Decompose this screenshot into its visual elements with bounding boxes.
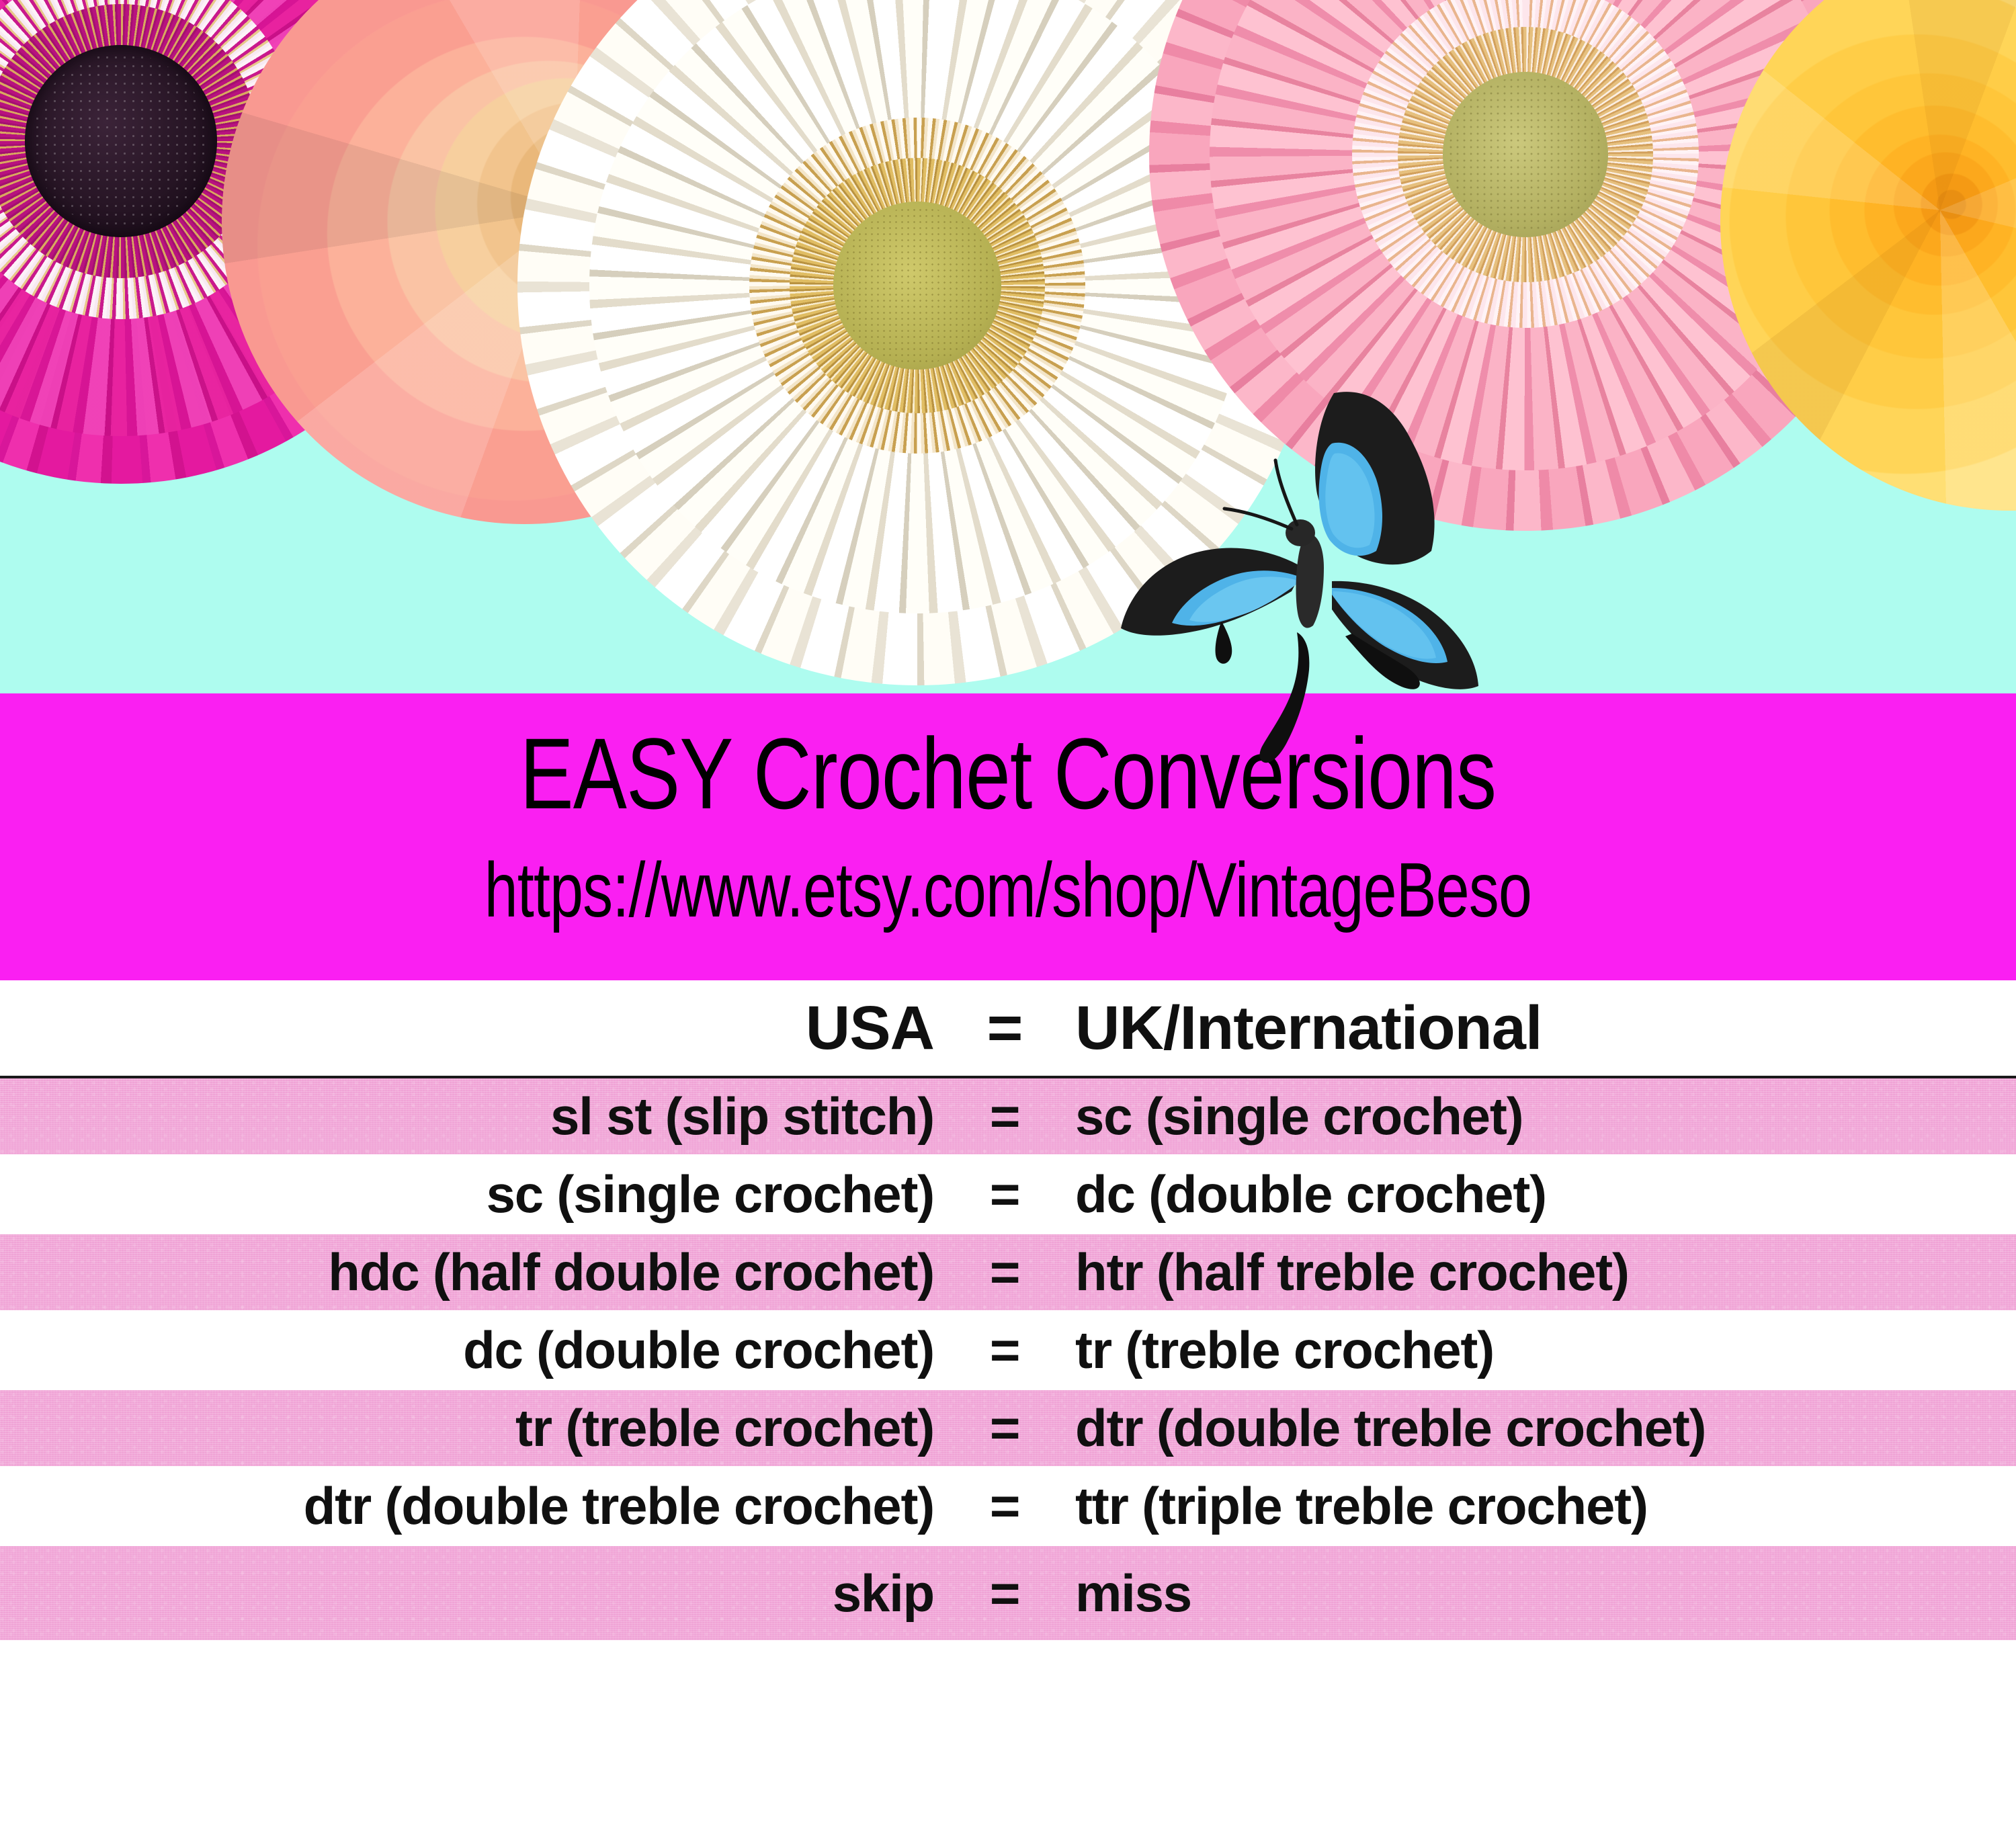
shop-url[interactable]: https://www.etsy.com/shop/VintageBeso [485,852,1531,929]
cell-equals: = [934,1086,1075,1147]
cell-usa: tr (treble crochet) [0,1398,934,1459]
table-row: hdc (half double crochet) = htr (half tr… [0,1234,2016,1310]
flower-center-disc [833,202,1001,370]
cell-usa: hdc (half double crochet) [0,1242,934,1303]
crochet-conversion-table: USA = UK/International sl st (slip stitc… [0,980,2016,1835]
cell-usa: skip [0,1563,934,1624]
cell-usa: sl st (slip stitch) [0,1086,934,1147]
cell-usa: sc (single crochet) [0,1164,934,1225]
cell-uk: htr (half treble crochet) [1075,1242,2016,1303]
title-banner: EASY Crochet Conversions https://www.ets… [0,693,2016,980]
table-row: sc (single crochet) = dc (double crochet… [0,1154,2016,1234]
cell-equals: = [934,1398,1075,1459]
cell-equals: = [934,1476,1075,1537]
header-equals: = [934,993,1075,1064]
table-row: sl st (slip stitch) = sc (single crochet… [0,1078,2016,1154]
butterfly-icon [1095,366,1525,783]
table-row: skip = miss [0,1546,2016,1640]
header-usa: USA [0,993,934,1064]
cell-equals: = [934,1563,1075,1624]
cell-usa: dc (double crochet) [0,1320,934,1381]
cell-uk: ttr (triple treble crochet) [1075,1476,2016,1537]
cell-uk: dc (double crochet) [1075,1164,2016,1225]
header-uk: UK/International [1075,993,2016,1064]
cell-equals: = [934,1164,1075,1225]
flower-center-disc [1443,72,1608,237]
cell-uk: sc (single crochet) [1075,1086,2016,1147]
crochet-conversion-infographic: EASY Crochet Conversions https://www.ets… [0,0,2016,1835]
table-row: tr (treble crochet) = dtr (double treble… [0,1390,2016,1466]
cell-usa: dtr (double treble crochet) [0,1476,934,1537]
flower-center-disc [25,45,217,237]
cell-uk: tr (treble crochet) [1075,1320,2016,1381]
hero-flower-photo-band [0,0,2016,693]
cell-uk: dtr (double treble crochet) [1075,1398,2016,1459]
table-row: dtr (double treble crochet) = ttr (tripl… [0,1466,2016,1546]
table-row: dc (double crochet) = tr (treble crochet… [0,1310,2016,1390]
cell-equals: = [934,1320,1075,1381]
cell-equals: = [934,1242,1075,1303]
table-header-row: USA = UK/International [0,980,2016,1078]
cell-uk: miss [1075,1563,2016,1624]
